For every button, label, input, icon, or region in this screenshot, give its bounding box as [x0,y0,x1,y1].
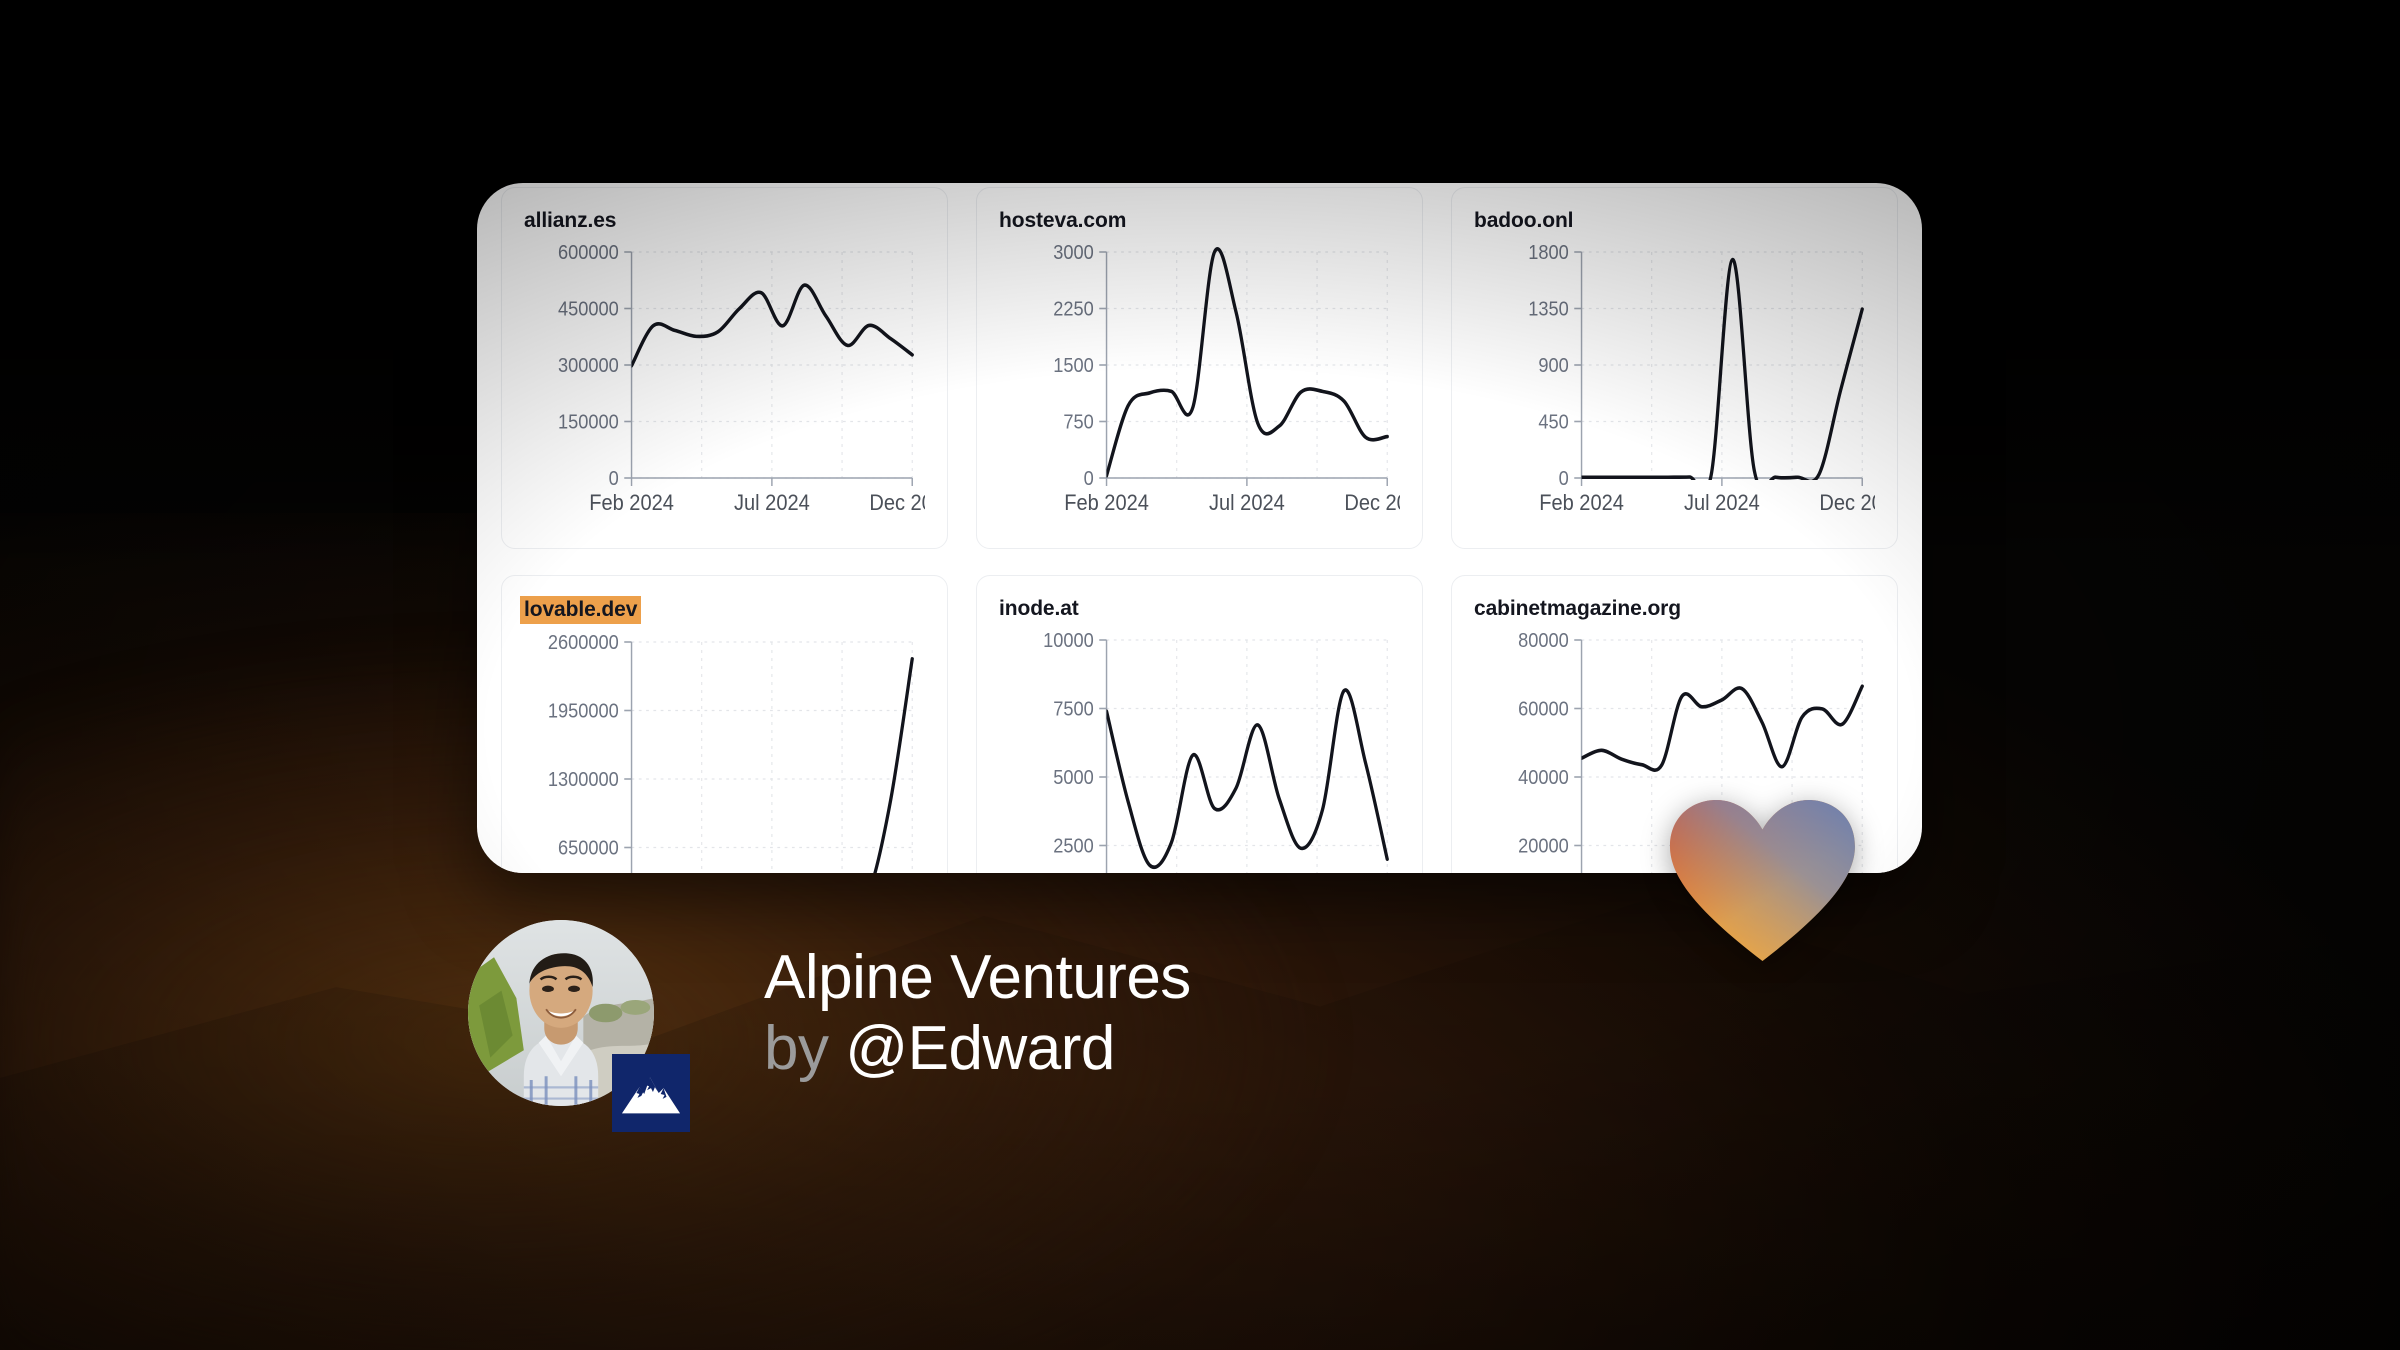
svg-text:Jul 2024: Jul 2024 [1209,491,1285,515]
avatar-wrapper [468,920,654,1106]
svg-text:40000: 40000 [1518,768,1569,790]
svg-text:5000: 5000 [1053,768,1094,790]
byline-author: by @Edward [764,1014,1191,1083]
chart-title: badoo.onl [1474,208,1573,234]
svg-text:Feb 2024: Feb 2024 [589,491,674,515]
svg-text:Jul 2024: Jul 2024 [1684,491,1760,515]
chart-card[interactable]: lovable.dev650000130000019500002600000 [501,575,948,873]
svg-text:Dec 2024: Dec 2024 [869,491,925,515]
chart-title: hosteva.com [999,208,1126,234]
svg-text:300000: 300000 [558,356,619,378]
svg-text:60000: 60000 [1518,699,1569,721]
svg-text:Dec 2024: Dec 2024 [1819,491,1875,515]
byline: Alpine Ventures by @Edward [468,920,1191,1106]
svg-text:10000: 10000 [1043,631,1094,653]
svg-text:450: 450 [1538,412,1568,434]
svg-text:0: 0 [1559,469,1569,491]
svg-text:0: 0 [609,469,619,491]
chart-title: cabinetmagazine.org [1474,596,1681,622]
svg-text:20000: 20000 [1518,836,1569,858]
svg-text:Feb 2024: Feb 2024 [1064,491,1149,515]
chart-title: lovable.dev [520,596,641,624]
chart-card[interactable]: hosteva.com0750150022503000Feb 2024Jul 2… [976,187,1423,549]
svg-text:900: 900 [1538,356,1568,378]
svg-text:600000: 600000 [558,243,619,265]
svg-text:1950000: 1950000 [548,701,619,723]
svg-text:0: 0 [1084,469,1094,491]
svg-text:650000: 650000 [558,838,619,860]
svg-text:1350: 1350 [1528,299,1569,321]
svg-text:3000: 3000 [1053,243,1094,265]
chart-title: inode.at [999,596,1079,622]
chart-card[interactable]: badoo.onl045090013501800Feb 2024Jul 2024… [1451,187,1898,549]
svg-text:750: 750 [1063,412,1093,434]
svg-text:150000: 150000 [558,412,619,434]
svg-text:2250: 2250 [1053,299,1094,321]
svg-text:1800: 1800 [1528,243,1569,265]
mountain-badge-icon [612,1054,690,1132]
page-title: Alpine Ventures [764,943,1191,1012]
svg-text:1500: 1500 [1053,356,1094,378]
chart-card[interactable]: allianz.es0150000300000450000600000Feb 2… [501,187,948,549]
chart-grid: allianz.es0150000300000450000600000Feb 2… [477,183,1922,873]
author-handle: @Edward [845,1014,1115,1083]
svg-text:2500: 2500 [1053,836,1094,858]
chart-plot: 650000130000019500002600000 [524,630,925,873]
chart-title: allianz.es [524,208,616,234]
byline-by-label: by [764,1014,828,1083]
svg-text:Feb 2024: Feb 2024 [1539,491,1624,515]
chart-plot: 0750150022503000Feb 2024Jul 2024Dec 2024 [999,240,1400,532]
svg-text:2600000: 2600000 [548,633,619,655]
svg-text:450000: 450000 [558,299,619,321]
byline-text: Alpine Ventures by @Edward [764,943,1191,1084]
dashboard-card: allianz.es0150000300000450000600000Feb 2… [477,183,1922,873]
chart-plot: 045090013501800Feb 2024Jul 2024Dec 2024 [1474,240,1875,532]
svg-text:Dec 2024: Dec 2024 [1344,491,1400,515]
heart-logo [1670,800,1855,960]
chart-card[interactable]: inode.at25005000750010000 [976,575,1423,873]
chart-plot: 0150000300000450000600000Feb 2024Jul 202… [524,240,925,532]
svg-text:1300000: 1300000 [548,770,619,792]
chart-plot: 25005000750010000 [999,628,1400,873]
svg-text:7500: 7500 [1053,699,1094,721]
svg-text:Jul 2024: Jul 2024 [734,491,810,515]
svg-text:80000: 80000 [1518,631,1569,653]
